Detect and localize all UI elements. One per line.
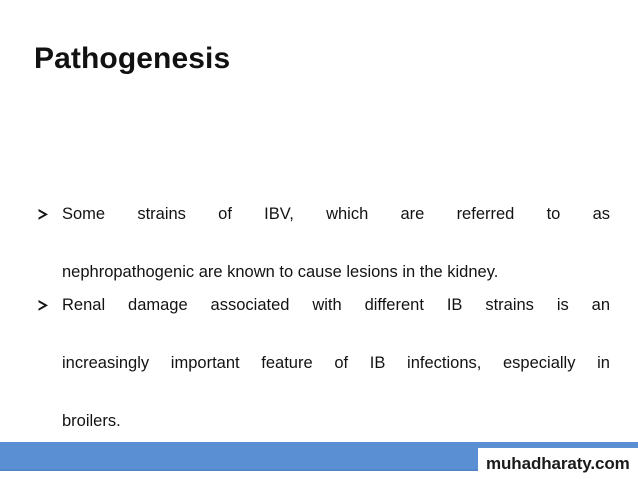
list-item-line: increasingly important feature of IB inf… (62, 349, 610, 407)
list-item: Some strains of IBV, which are referred … (36, 200, 610, 287)
list-item-line: Some strains of IBV, which are referred … (62, 200, 610, 258)
list-item-line: broilers. (62, 407, 610, 436)
page-title: Pathogenesis (34, 40, 230, 78)
list-item: Renal damage associated with different I… (36, 291, 610, 436)
list-item-line: Renal damage associated with different I… (62, 291, 610, 349)
presentation-slide: Pathogenesis Some strains of IBV, which … (0, 0, 638, 479)
watermark-label: muhadharaty.com (486, 453, 630, 475)
slide-body: Some strains of IBV, which are referred … (36, 200, 610, 436)
arrowhead-bullet-icon (36, 200, 56, 229)
arrowhead-bullet-icon (36, 291, 56, 320)
list-item-line: nephropathogenic are known to cause lesi… (62, 258, 610, 287)
